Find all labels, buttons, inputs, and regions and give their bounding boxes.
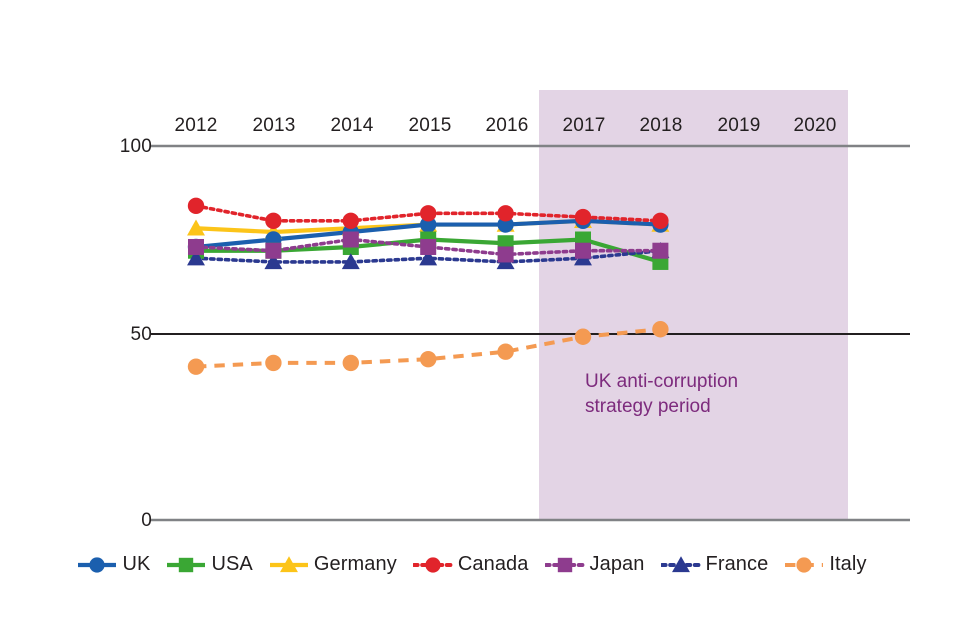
data-point-marker xyxy=(497,344,513,360)
chart-container: 100 50 0 2012 2013 2014 2015 2016 2017 2… xyxy=(0,0,960,640)
data-point-marker xyxy=(797,557,812,572)
data-point-marker xyxy=(420,239,436,255)
data-point-marker xyxy=(90,557,105,572)
data-point-marker xyxy=(575,209,591,225)
legend-swatch-usa xyxy=(166,554,206,576)
data-point-marker xyxy=(425,557,440,572)
series-layer xyxy=(187,198,669,375)
legend-label-usa: USA xyxy=(211,553,252,576)
data-point-marker xyxy=(188,198,204,214)
data-point-marker xyxy=(179,557,193,571)
legend-item-france[interactable]: France xyxy=(661,553,769,576)
data-point-marker xyxy=(652,321,668,337)
data-point-marker xyxy=(343,232,359,248)
legend-swatch-germany xyxy=(269,554,309,576)
data-point-marker xyxy=(420,205,436,221)
data-point-marker xyxy=(498,246,514,262)
legend-item-japan[interactable]: Japan xyxy=(545,553,645,576)
data-point-marker xyxy=(652,243,668,259)
plot-area xyxy=(0,0,960,640)
legend-label-uk: UK xyxy=(122,553,150,576)
legend-label-france: France xyxy=(706,553,769,576)
data-point-marker xyxy=(188,358,204,374)
axis-lines xyxy=(151,146,910,520)
legend-swatch-france xyxy=(661,554,701,576)
legend-label-japan: Japan xyxy=(590,553,645,576)
data-point-marker xyxy=(652,213,668,229)
legend-item-canada[interactable]: Canada xyxy=(413,553,529,576)
legend-item-germany[interactable]: Germany xyxy=(269,553,397,576)
data-point-marker xyxy=(575,329,591,345)
chart-legend: UKUSAGermanyCanadaJapanFranceItaly xyxy=(0,553,960,576)
data-point-marker xyxy=(188,239,204,255)
data-point-marker xyxy=(343,213,359,229)
legend-label-italy: Italy xyxy=(829,553,866,576)
series-markers-italy xyxy=(188,321,669,375)
legend-swatch-uk xyxy=(77,554,117,576)
data-point-marker xyxy=(575,243,591,259)
data-point-marker xyxy=(265,355,281,371)
legend-item-italy[interactable]: Italy xyxy=(784,553,866,576)
data-point-marker xyxy=(343,355,359,371)
legend-swatch-canada xyxy=(413,554,453,576)
legend-label-germany: Germany xyxy=(314,553,397,576)
legend-label-canada: Canada xyxy=(458,553,529,576)
data-point-marker xyxy=(557,557,571,571)
legend-item-usa[interactable]: USA xyxy=(166,553,252,576)
legend-swatch-japan xyxy=(545,554,585,576)
data-point-marker xyxy=(265,213,281,229)
data-point-marker xyxy=(265,243,281,259)
legend-swatch-italy xyxy=(784,554,824,576)
data-point-marker xyxy=(420,351,436,367)
legend-item-uk[interactable]: UK xyxy=(77,553,150,576)
data-point-marker xyxy=(497,205,513,221)
